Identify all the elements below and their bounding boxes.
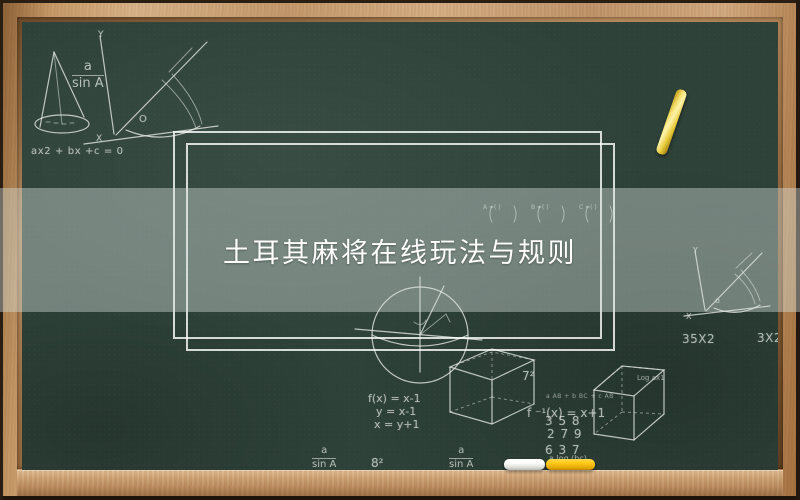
exponent-seven: 7²: [522, 369, 534, 383]
title-overlay-band: 土耳其麻将在线玩法与规则: [0, 188, 800, 312]
fraction-numerator: a: [72, 60, 104, 74]
angle-label-o-topleft: O: [139, 114, 147, 125]
fraction-bar: [312, 458, 336, 459]
banner-stage: a sin A Y X O ax2 + bx +c = 0: [0, 0, 800, 500]
fraction-denominator: sin A: [312, 460, 336, 471]
matrix-label-35x2: 35X2: [682, 332, 715, 346]
quadratic-equation: ax2 + bx +c = 0: [31, 146, 124, 157]
cube-drawing-center: [450, 349, 534, 424]
frame-edge-bottom: [0, 496, 800, 500]
fraction-denominator: sin A: [72, 77, 104, 91]
axis-label-y-topleft: Y: [98, 30, 104, 40]
fraction-a-over-sinA-topleft: a sin A: [72, 60, 104, 90]
inverse-function-label: f ⁻¹(x) = x+1: [527, 406, 605, 420]
function-line-1: f(x) = x-1: [368, 392, 421, 405]
cone-drawing: [35, 52, 89, 133]
exponent-eight: 8²: [371, 456, 383, 470]
white-chalk-stick: [504, 459, 545, 470]
frame-edge-top: [0, 0, 800, 3]
function-line-3: x = y+1: [374, 418, 419, 431]
cube-drawing-right: [594, 366, 664, 440]
axis-label-x-right: X: [686, 312, 691, 321]
yellow-chalk-stick-ledge: [546, 459, 595, 470]
sum-row-3: 6 3 7: [545, 443, 581, 457]
angle-diagram-left: [84, 36, 218, 144]
sum-row-1: 3 5 8: [545, 414, 581, 428]
fraction-numerator: a: [449, 446, 473, 457]
sum-row-2: 2 7 9: [547, 427, 583, 441]
chalk-ledge: [17, 470, 783, 496]
fraction-denominator: sin A: [449, 460, 473, 471]
matrix-label-3x2: 3X2: [757, 331, 778, 345]
fraction-bar: [449, 458, 473, 459]
vector-note: a AB + b BC + c AB: [546, 393, 614, 400]
page-title: 土耳其麻将在线玩法与规则: [223, 231, 577, 270]
fraction-numerator: a: [312, 446, 336, 457]
log-ax-label: Log ax1: [637, 374, 665, 382]
axis-label-x-topleft: X: [96, 134, 102, 144]
fraction-bar: [72, 75, 104, 76]
yellow-chalk-stick-diagonal: [655, 88, 688, 156]
fraction-a-over-sinA-bottomleft: a sin A: [312, 446, 336, 470]
function-line-2: y = x-1: [376, 405, 416, 418]
fraction-a-over-sinA-bottommid: a sin A: [449, 446, 473, 470]
